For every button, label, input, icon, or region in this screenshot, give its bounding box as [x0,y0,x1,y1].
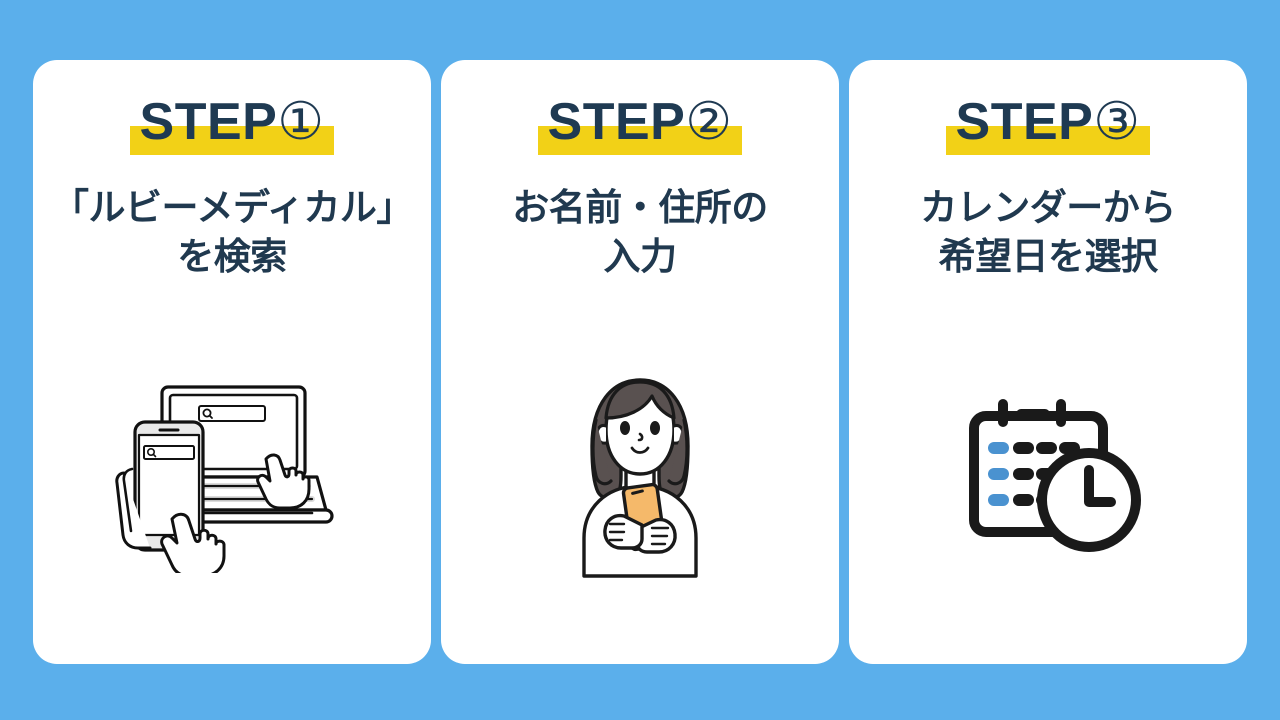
step-title-2: STEP② [548,93,733,151]
caption-line-2: 入力 [460,232,820,281]
caption-line-1: 「ルビーメディカル」 [52,183,412,232]
step-card-2[interactable]: STEP② お名前・住所の 入力 [441,60,839,664]
illustration-container-2 [441,281,839,664]
step-title-3: STEP③ [956,93,1141,151]
step-card-3[interactable]: STEP③ カレンダーから 希望日を選択 [849,60,1247,664]
laptop-phone-search-illustration [112,373,352,573]
step-number-3: ③ [1093,92,1140,152]
step-label-1: STEP [140,93,278,151]
step-guide-banner: STEP① 「ルビーメディカル」 を検索 [0,0,1280,720]
step-number-2: ② [685,92,732,152]
caption-line-1: お名前・住所の [460,183,820,232]
step-label-2: STEP [548,93,686,151]
step-number-1: ① [277,92,324,152]
illustration-container-3 [849,281,1247,664]
step-card-1[interactable]: STEP① 「ルビーメディカル」 を検索 [33,60,431,664]
caption-line-1: カレンダーから [868,183,1228,232]
steps-row: STEP① 「ルビーメディカル」 を検索 [33,60,1247,664]
caption-line-2: を検索 [52,232,412,281]
caption-line-2: 希望日を選択 [868,232,1228,281]
step-header-3: STEP③ [849,89,1247,155]
step-caption-3: カレンダーから 希望日を選択 [868,183,1228,281]
woman-with-smartphone-illustration [560,368,720,578]
step-header-2: STEP② [441,89,839,155]
step-caption-1: 「ルビーメディカル」 を検索 [52,183,412,281]
step-caption-2: お名前・住所の 入力 [460,183,820,281]
calendar-clock-icon [941,390,1156,555]
step-title-1: STEP① [140,93,325,151]
step-header-1: STEP① [33,89,431,155]
step-label-3: STEP [956,93,1094,151]
illustration-container-1 [33,281,431,664]
